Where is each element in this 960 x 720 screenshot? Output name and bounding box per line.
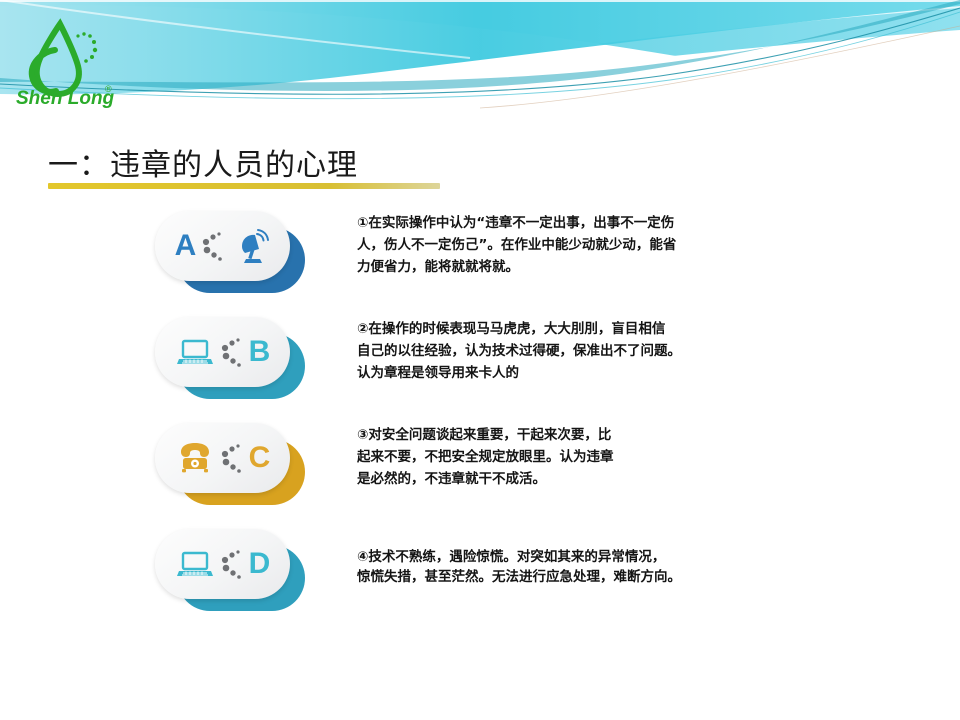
- badge-c[interactable]: C: [155, 423, 307, 509]
- badge-plate: A: [155, 211, 290, 281]
- laptop-icon: [175, 544, 215, 584]
- badge-letter: D: [249, 549, 271, 579]
- badge-plate: C: [155, 423, 290, 493]
- dots-icon: [217, 547, 247, 581]
- badge-plate: D: [155, 529, 290, 599]
- dots-icon: [198, 229, 228, 263]
- item-text: ②在操作的时候表现马马虎虎，大大刖刖，盲目相信 自己的以往经验，认为技术过得硬，…: [357, 319, 757, 385]
- stars-group: [76, 32, 97, 63]
- telephone-icon: [175, 438, 215, 478]
- list-item: D ④技术不熟练，遇险惊慌。对突如其来的异常情况， 惊慌失措，甚至茫然。无法进行…: [0, 523, 960, 629]
- registered-mark: ®: [105, 84, 112, 94]
- item-text: ①在实际操作中认为“违章不一定出事，出事不一定伤 人，伤人不一定伤己”。在作业中…: [357, 213, 757, 279]
- badge-letter: C: [249, 443, 271, 473]
- title-underline: [48, 183, 440, 189]
- shen-long-logo: Shen Long ®: [8, 12, 118, 112]
- laptop-icon: [175, 332, 215, 372]
- badge-letter: B: [249, 337, 271, 367]
- logo-wordmark: Shen Long: [16, 88, 115, 109]
- badge-a[interactable]: A: [155, 211, 307, 297]
- badge-b[interactable]: B: [155, 317, 307, 403]
- wave-banner: [0, 0, 960, 122]
- list-item: C ③对安全问题谈起来重要，干起来次要，比 起来不要，不把安全规定放眼里。认为违…: [0, 417, 960, 523]
- content-list: A: [0, 205, 960, 629]
- satellite-dish-icon: [230, 226, 270, 266]
- badge-d[interactable]: D: [155, 529, 307, 615]
- badge-plate: B: [155, 317, 290, 387]
- page-title: 一：违章的人员的心理: [48, 140, 358, 184]
- item-text: ③对安全问题谈起来重要，干起来次要，比 起来不要，不把安全规定放眼里。认为违章 …: [357, 425, 757, 491]
- list-item: A: [0, 205, 960, 311]
- badge-letter: A: [175, 231, 197, 261]
- dots-icon: [217, 335, 247, 369]
- water-drop-leaf-mark: [32, 24, 79, 94]
- presentation-slide: Shen Long ® 一：违章的人员的心理 A: [0, 0, 960, 720]
- list-item: B ②在操作的时候表现马马虎虎，大大刖刖，盲目相信 自己的以往经验，认为技术过得…: [0, 311, 960, 417]
- item-text: ④技术不熟练，遇险惊慌。对突如其来的异常情况， 惊慌失措，甚至茫然。无法进行应急…: [357, 547, 757, 588]
- dots-icon: [217, 441, 247, 475]
